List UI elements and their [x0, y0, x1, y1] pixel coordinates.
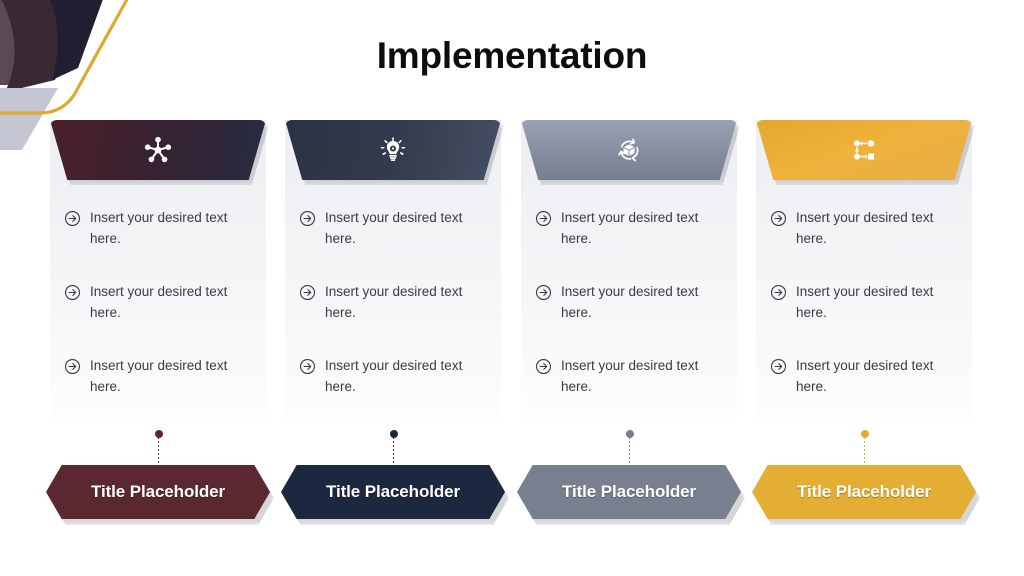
bullet-list: Insert your desired text here. Insert yo… — [285, 186, 501, 397]
circle-arrow-right-icon — [535, 284, 552, 301]
circle-arrow-right-icon — [64, 284, 81, 301]
column-header[interactable] — [756, 120, 972, 180]
title-placeholder-button[interactable]: Title Placeholder — [281, 465, 505, 519]
column-header-wrap — [285, 120, 501, 186]
list-item: Insert your desired text here. — [299, 356, 487, 397]
column-header[interactable] — [50, 120, 266, 180]
circle-arrow-right-icon — [770, 284, 787, 301]
title-chip-wrap: Title Placeholder — [752, 465, 976, 521]
list-item-text: Insert your desired text here. — [90, 208, 240, 249]
bullet-list: Insert your desired text here. Insert yo… — [50, 186, 266, 397]
list-item-text: Insert your desired text here. — [325, 208, 475, 249]
circle-arrow-right-icon — [299, 284, 316, 301]
list-item-text: Insert your desired text here. — [796, 282, 946, 323]
list-item: Insert your desired text here. — [770, 208, 958, 249]
slide-canvas: Implementation — [0, 0, 1024, 576]
list-item-text: Insert your desired text here. — [561, 356, 711, 397]
column-header-wrap — [50, 120, 266, 186]
box-recycle-icon — [614, 135, 644, 165]
list-item: Insert your desired text here. — [64, 208, 252, 249]
connector-line — [864, 430, 865, 472]
list-item-text: Insert your desired text here. — [561, 282, 711, 323]
circle-arrow-right-icon — [535, 358, 552, 375]
column-header[interactable] — [285, 120, 501, 180]
connector-line — [158, 430, 159, 472]
list-item-text: Insert your desired text here. — [796, 208, 946, 249]
list-item: Insert your desired text here. — [770, 356, 958, 397]
list-item-text: Insert your desired text here. — [561, 208, 711, 249]
list-item-text: Insert your desired text here. — [325, 282, 475, 323]
implementation-column: Insert your desired text here. Insert yo… — [756, 120, 972, 430]
circle-arrow-right-icon — [64, 210, 81, 227]
circle-arrow-right-icon — [64, 358, 81, 375]
title-placeholder-button[interactable]: Title Placeholder — [46, 465, 270, 519]
connector-stem — [629, 437, 630, 472]
list-item-text: Insert your desired text here. — [90, 282, 240, 323]
connector-line — [629, 430, 630, 472]
connector-line — [393, 430, 394, 472]
connector-stem — [393, 437, 394, 472]
title-placeholder-button[interactable]: Title Placeholder — [752, 465, 976, 519]
list-item: Insert your desired text here. — [299, 208, 487, 249]
column-header-wrap — [756, 120, 972, 186]
implementation-column: Insert your desired text here. Insert yo… — [50, 120, 266, 430]
list-item: Insert your desired text here. — [64, 356, 252, 397]
list-item: Insert your desired text here. — [535, 282, 723, 323]
list-item: Insert your desired text here. — [770, 282, 958, 323]
workflow-nodes-icon — [849, 135, 879, 165]
list-item: Insert your desired text here. — [535, 356, 723, 397]
circle-arrow-right-icon — [535, 210, 552, 227]
circle-arrow-right-icon — [770, 358, 787, 375]
list-item: Insert your desired text here. — [299, 282, 487, 323]
connector-stem — [864, 437, 865, 472]
implementation-column: Insert your desired text here. Insert yo… — [285, 120, 501, 430]
implementation-column: Insert your desired text here. Insert yo… — [521, 120, 737, 430]
bullet-list: Insert your desired text here. Insert yo… — [521, 186, 737, 397]
list-item: Insert your desired text here. — [535, 208, 723, 249]
title-chip-wrap: Title Placeholder — [281, 465, 505, 521]
circle-arrow-right-icon — [299, 210, 316, 227]
list-item-text: Insert your desired text here. — [796, 356, 946, 397]
list-item-text: Insert your desired text here. — [325, 356, 475, 397]
page-title: Implementation — [0, 35, 1024, 77]
title-placeholder-button[interactable]: Title Placeholder — [517, 465, 741, 519]
connector-stem — [158, 437, 159, 472]
circle-arrow-right-icon — [770, 210, 787, 227]
circle-arrow-right-icon — [299, 358, 316, 375]
bullet-list: Insert your desired text here. Insert yo… — [756, 186, 972, 397]
title-chip-wrap: Title Placeholder — [46, 465, 270, 521]
column-header[interactable] — [521, 120, 737, 180]
lightbulb-gear-icon — [378, 135, 408, 165]
list-item-text: Insert your desired text here. — [90, 356, 240, 397]
network-hub-icon — [143, 135, 173, 165]
title-chip-wrap: Title Placeholder — [517, 465, 741, 521]
column-header-wrap — [521, 120, 737, 186]
list-item: Insert your desired text here. — [64, 282, 252, 323]
